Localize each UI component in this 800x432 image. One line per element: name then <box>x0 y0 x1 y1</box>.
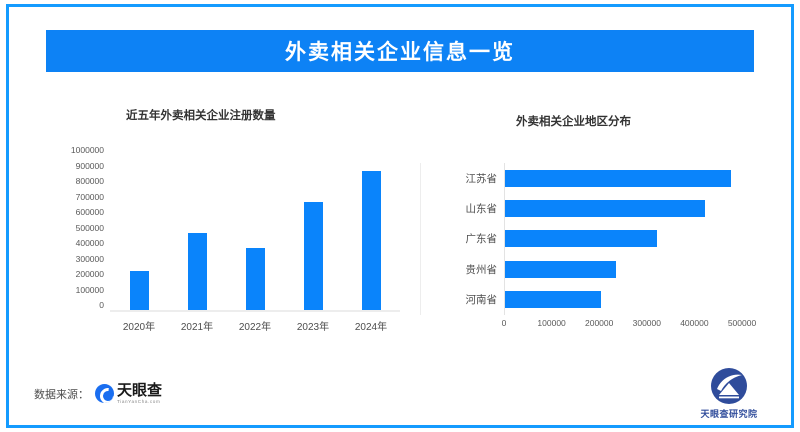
chart-right-bar <box>505 200 705 217</box>
tianyancha-eye-icon <box>95 384 114 403</box>
tianyancha-name-cn: 天眼查 <box>117 383 162 398</box>
chart-left-x-axis: 2020年2021年2022年2023年2024年 <box>110 318 400 333</box>
chart-right-bar <box>505 261 616 278</box>
chart-right-bar-track <box>505 254 743 284</box>
chart-left-x-tick: 2021年 <box>171 318 223 333</box>
page-title: 外卖相关企业信息一览 <box>285 36 515 66</box>
chart-right-bar-track <box>505 285 743 315</box>
tianyancha-name-en: TianYanCha.com <box>117 400 162 405</box>
chart-right-x-axis: 0100000200000300000400000500000 <box>504 318 754 332</box>
chart-left-title: 近五年外卖相关企业注册数量 <box>126 107 276 123</box>
chart-right-title: 外卖相关企业地区分布 <box>516 113 631 129</box>
chart-right-bar <box>505 170 731 187</box>
chart-right-bars: 江苏省山东省广东省贵州省河南省 <box>420 163 760 315</box>
chart-left-y-tick: 900000 <box>76 161 104 171</box>
chart-left-y-axis: 1000000900000800000700000600000500000400… <box>46 150 104 315</box>
chart-registration-count: 近五年外卖相关企业注册数量 10000009000008000007000006… <box>46 95 406 360</box>
chart-right-category-label: 河南省 <box>421 292 497 307</box>
chart-right-x-tick: 200000 <box>585 318 613 328</box>
chart-left-y-tick: 100000 <box>76 285 104 295</box>
chart-left-bar <box>188 233 207 311</box>
chart-left-plot: 1000000900000800000700000600000500000400… <box>46 155 406 320</box>
infographic-page: 外卖相关企业信息一览 近五年外卖相关企业注册数量 100000090000080… <box>0 0 800 432</box>
chart-left-y-tick: 600000 <box>76 207 104 217</box>
chart-right-bar-track <box>505 224 743 254</box>
institute-brand: 天眼查研究院 <box>690 368 768 420</box>
chart-left-bar <box>130 271 149 310</box>
chart-right-row: 河南省 <box>421 285 760 315</box>
chart-right-x-tick: 0 <box>502 318 507 328</box>
chart-left-bars <box>110 155 400 310</box>
chart-right-category-label: 贵州省 <box>421 262 497 277</box>
chart-right-x-tick: 100000 <box>537 318 565 328</box>
data-source: 数据来源： 天眼查 TianYanCha.com <box>34 383 162 404</box>
chart-right-axis-line <box>504 163 505 315</box>
chart-right-category-label: 广东省 <box>421 231 497 246</box>
chart-right-x-tick: 300000 <box>633 318 661 328</box>
chart-left-x-tick: 2022年 <box>229 318 281 333</box>
chart-right-plot: 江苏省山东省广东省贵州省河南省 010000020000030000040000… <box>420 163 760 343</box>
title-banner: 外卖相关企业信息一览 <box>46 30 754 72</box>
tianyancha-wordmark: 天眼查 TianYanCha.com <box>117 383 162 404</box>
chart-right-row: 江苏省 <box>421 163 760 193</box>
chart-left-y-tick: 1000000 <box>71 145 104 155</box>
chart-right-category-label: 江苏省 <box>421 171 497 186</box>
chart-left-y-tick: 800000 <box>76 176 104 186</box>
chart-left-y-tick: 300000 <box>76 254 104 264</box>
chart-right-bar-track <box>505 193 743 223</box>
chart-right-x-tick: 500000 <box>728 318 756 328</box>
chart-right-row: 山东省 <box>421 193 760 223</box>
chart-left-x-tick: 2020年 <box>113 318 165 333</box>
chart-left-y-tick: 0 <box>99 300 104 310</box>
tianyancha-logo: 天眼查 TianYanCha.com <box>95 383 162 404</box>
chart-right-x-tick: 400000 <box>680 318 708 328</box>
chart-right-row: 广东省 <box>421 224 760 254</box>
data-source-label: 数据来源： <box>34 386 89 402</box>
chart-left-x-tick: 2023年 <box>287 318 339 333</box>
chart-left-x-tick: 2024年 <box>345 318 397 333</box>
chart-left-y-tick: 700000 <box>76 192 104 202</box>
chart-region-distribution: 外卖相关企业地区分布 江苏省山东省广东省贵州省河南省 0100000200000… <box>420 95 760 360</box>
chart-right-bar <box>505 230 657 247</box>
chart-left-bar <box>246 248 265 310</box>
chart-left-y-tick: 500000 <box>76 223 104 233</box>
institute-name: 天眼查研究院 <box>700 407 757 420</box>
chart-right-category-label: 山东省 <box>421 201 497 216</box>
chart-left-bar <box>362 171 381 311</box>
chart-left-y-tick: 200000 <box>76 269 104 279</box>
chart-right-bar-track <box>505 163 743 193</box>
institute-logo-icon <box>711 368 747 404</box>
chart-right-row: 贵州省 <box>421 254 760 284</box>
chart-left-bar <box>304 202 323 311</box>
chart-left-y-tick: 400000 <box>76 238 104 248</box>
chart-right-bar <box>505 291 601 308</box>
